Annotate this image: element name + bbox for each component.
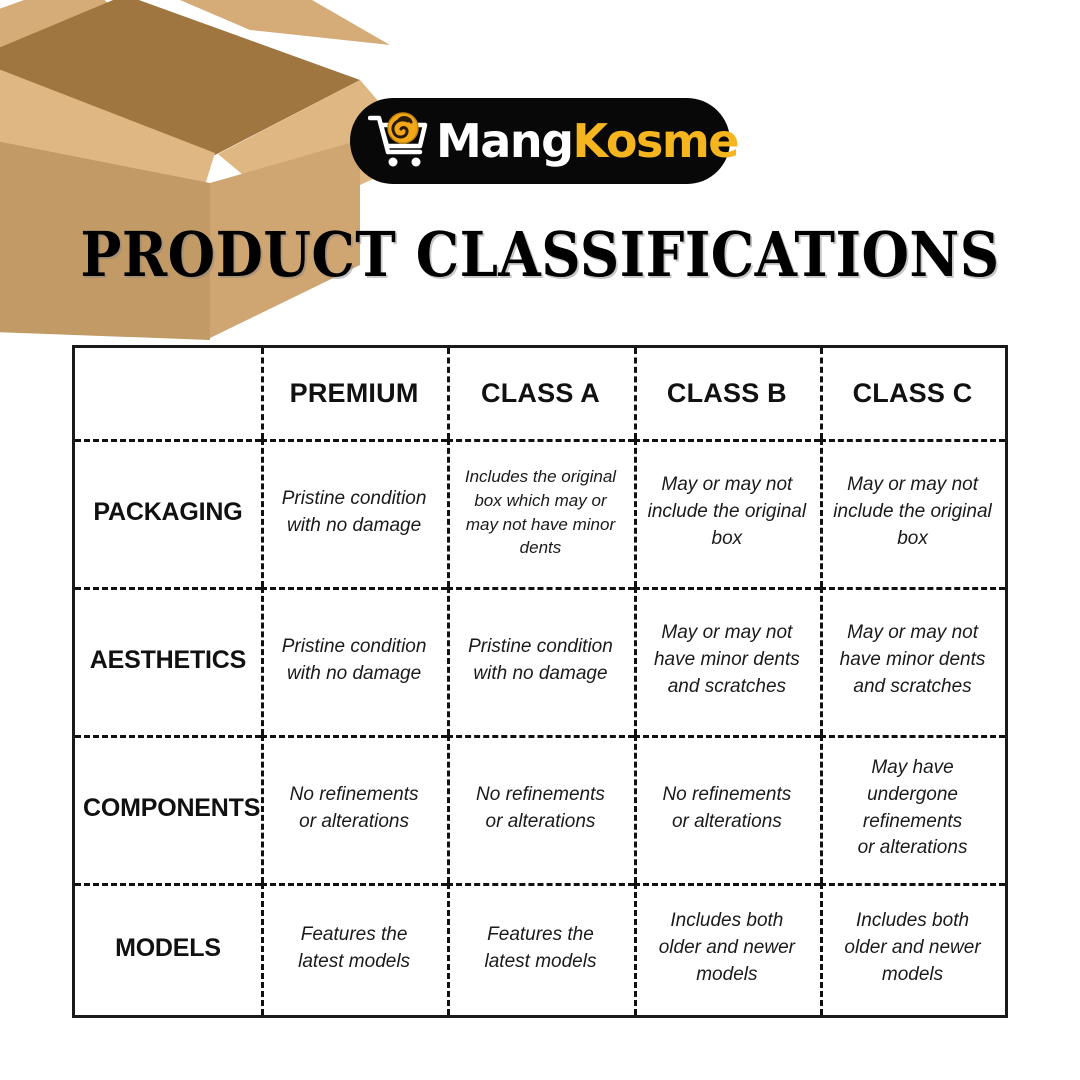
cell-aesthetics-class-a: Pristine condition with no damage: [447, 587, 633, 735]
cell-text: Includes the original box which may or m…: [455, 465, 625, 560]
column-header-class-c: CLASS C: [820, 347, 1006, 439]
column-header-class-a: CLASS A: [447, 347, 633, 439]
cell-packaging-class-a: Includes the original box which may or m…: [447, 439, 633, 587]
table-row: MODELS Features the latest models Featur…: [74, 883, 1007, 1017]
cell-text: May or may not have minor dents and scra…: [642, 620, 812, 701]
brand-logo[interactable]: Mang Kosme: [350, 98, 730, 184]
cell-aesthetics-class-b: May or may not have minor dents and scra…: [634, 587, 820, 735]
cell-text: No refinements or alterations: [269, 782, 439, 836]
cell-text: Includes both older and newer models: [642, 908, 812, 989]
row-label-models: MODELS: [74, 883, 261, 1017]
box-flap-back-left: [0, 0, 135, 95]
cell-text: May or may not include the original box: [828, 472, 997, 553]
page-title: PRODUCT CLASSIFICATIONS: [65, 218, 1015, 291]
cell-models-premium: Features the latest models: [261, 883, 447, 1017]
cell-text: May have undergone refinements or altera…: [828, 755, 997, 863]
cell-text: No refinements or alterations: [642, 782, 812, 836]
brand-name-accent: Kosme: [573, 118, 738, 164]
cell-components-class-c: May have undergone refinements or altera…: [820, 735, 1006, 883]
cell-text: Includes both older and newer models: [828, 908, 997, 989]
cell-components-class-b: No refinements or alterations: [634, 735, 820, 883]
box-flap-front-left: [0, 58, 215, 185]
brand-name-primary: Mang: [436, 118, 573, 164]
open-cardboard-box-illustration: [0, 0, 430, 370]
table-row: PACKAGING Pristine condition with no dam…: [74, 439, 1007, 587]
cell-aesthetics-premium: Pristine condition with no damage: [261, 587, 447, 735]
cell-packaging-premium: Pristine condition with no damage: [261, 439, 447, 587]
row-label-packaging: PACKAGING: [74, 439, 261, 587]
cell-components-class-a: No refinements or alterations: [447, 735, 633, 883]
box-flap-back-right: [110, 0, 390, 45]
cell-components-premium: No refinements or alterations: [261, 735, 447, 883]
product-classification-table: PREMIUM CLASS A CLASS B CLASS C PACKAGIN…: [72, 345, 1008, 1018]
cell-text: May or may not include the original box: [642, 472, 812, 553]
row-label-components: COMPONENTS: [74, 735, 261, 883]
cell-text: Features the latest models: [455, 922, 625, 976]
cell-packaging-class-c: May or may not include the original box: [820, 439, 1006, 587]
table-row: AESTHETICS Pristine condition with no da…: [74, 587, 1007, 735]
box-interior: [0, 0, 360, 155]
cell-models-class-a: Features the latest models: [447, 883, 633, 1017]
cell-aesthetics-class-c: May or may not have minor dents and scra…: [820, 587, 1006, 735]
cell-text: May or may not have minor dents and scra…: [828, 620, 997, 701]
cell-text: Pristine condition with no damage: [455, 634, 625, 688]
cell-models-class-b: Includes both older and newer models: [634, 883, 820, 1017]
cell-text: Pristine condition with no damage: [269, 634, 439, 688]
table-corner-cell: [74, 347, 261, 439]
cell-text: Features the latest models: [269, 922, 439, 976]
column-header-premium: PREMIUM: [261, 347, 447, 439]
cell-text: No refinements or alterations: [455, 782, 625, 836]
table-header-row: PREMIUM CLASS A CLASS B CLASS C: [74, 347, 1007, 439]
row-label-aesthetics: AESTHETICS: [74, 587, 261, 735]
shopping-cart-icon: [368, 112, 432, 170]
cell-packaging-class-b: May or may not include the original box: [634, 439, 820, 587]
cell-models-class-c: Includes both older and newer models: [820, 883, 1006, 1017]
table-row: COMPONENTS No refinements or alterations…: [74, 735, 1007, 883]
cell-text: Pristine condition with no damage: [269, 486, 439, 540]
column-header-class-b: CLASS B: [634, 347, 820, 439]
